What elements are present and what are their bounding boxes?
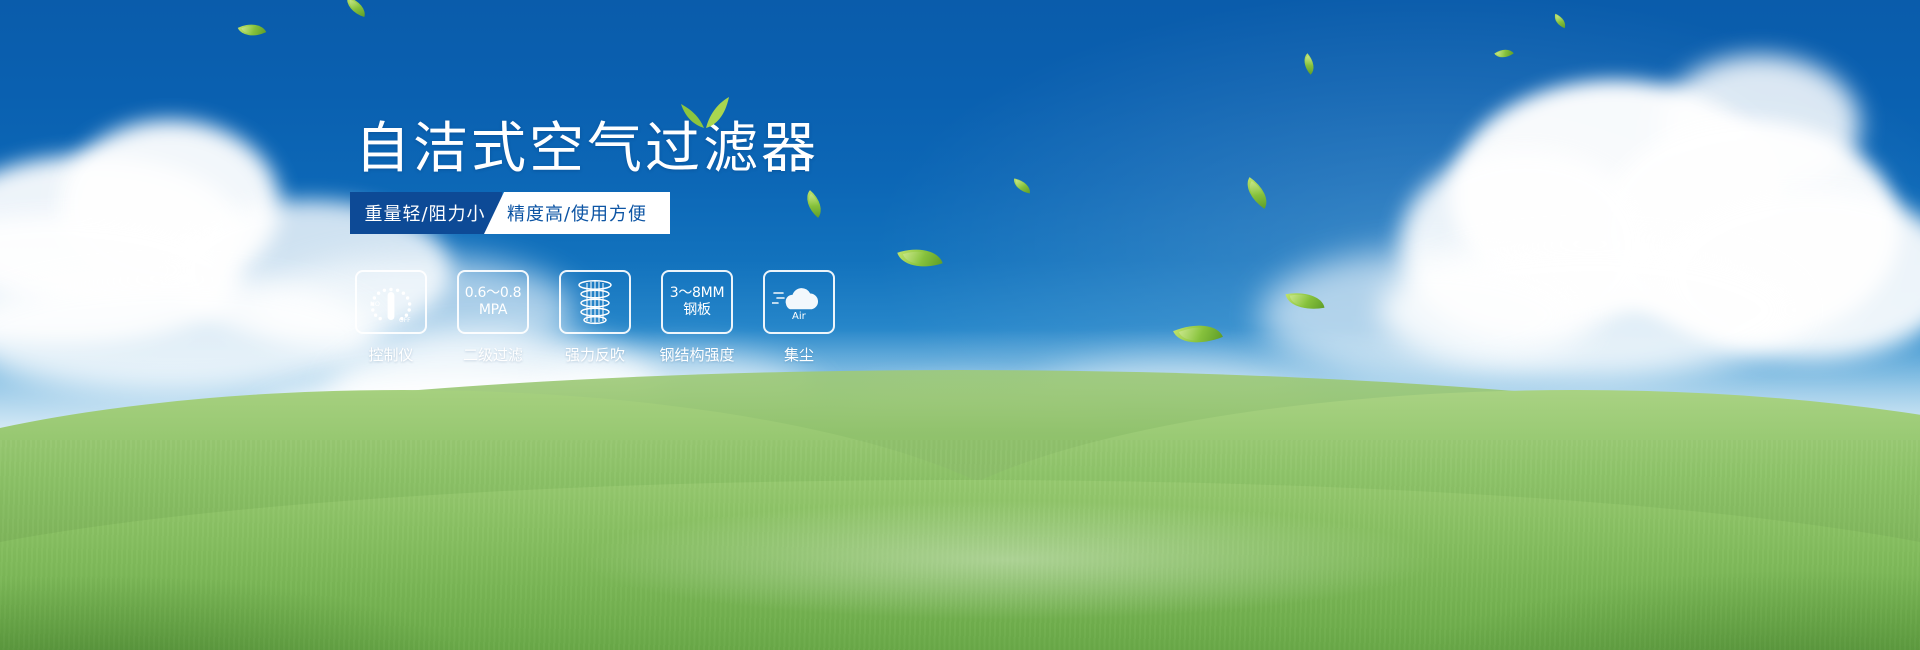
feature-box-cartridge [559,270,631,334]
tab-precision-convenience[interactable]: 精度高/使用方便 [484,192,670,234]
tab-weight-resistance[interactable]: 重量轻/阻力小 [350,192,502,234]
feature-box-air: Air [763,270,835,334]
air-label: Air [792,311,807,322]
feature-label-controller: 控制仪 [368,344,413,365]
steel-thickness: 3～8MM [670,285,724,302]
dial-label-no: NO [370,300,380,308]
feature-item-controller[interactable]: NO OFF 控制仪 [355,270,427,365]
pressure-unit: MPA [479,302,507,319]
air-cloud-icon: Air [772,282,826,322]
feature-box-pressure: 0.6～0.8 MPA [457,270,529,334]
page-title: 自洁式空气过滤器 [355,118,819,178]
feature-icon-row: NO OFF 控制仪 0.6～0.8 MPA 二级过滤 [355,270,835,365]
feature-label-steel-strength: 钢结构强度 [660,344,735,365]
feature-item-back-blow[interactable]: 强力反吹 [559,270,631,365]
feature-tabs: 重量轻/阻力小 精度高/使用方便 [350,192,670,234]
feature-label-two-stage-filter: 二级过滤 [463,344,523,365]
pressure-value: 0.6～0.8 [465,285,521,302]
filter-cartridge-icon [572,278,618,326]
feature-item-steel-strength[interactable]: 3～8MM 钢板 钢结构强度 [661,270,733,365]
feature-box-steel: 3～8MM 钢板 [661,270,733,334]
banner-content: 自洁式空气过滤器 重量轻/阻力小 精度高/使用方便 [0,0,1920,650]
feature-label-dust-collection: 集尘 [784,344,814,365]
dial-label-off: OFF [399,317,411,324]
feature-item-two-stage-filter[interactable]: 0.6～0.8 MPA 二级过滤 [457,270,529,365]
steel-material: 钢板 [683,302,710,319]
dial-gauge-icon: NO OFF [365,279,417,325]
feature-label-back-blow: 强力反吹 [565,344,625,365]
feature-box-controller: NO OFF [355,270,427,334]
sprout-leaf-icon [680,88,730,128]
feature-item-dust-collection[interactable]: Air 集尘 [763,270,835,365]
